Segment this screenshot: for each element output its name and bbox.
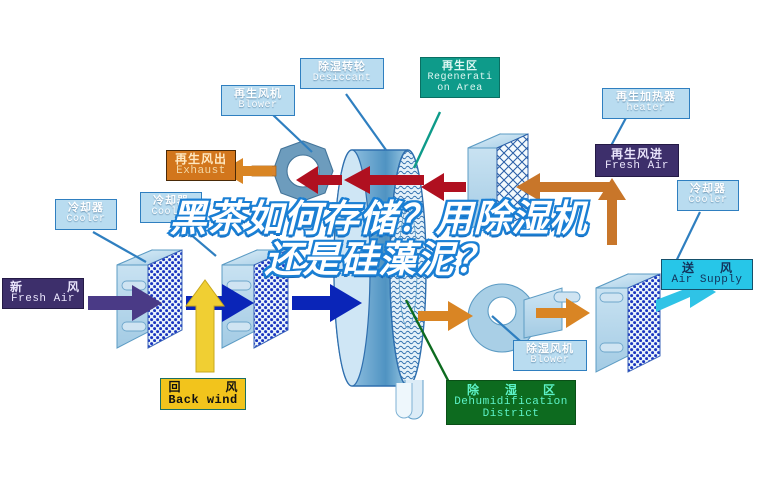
label-dehum-blower: 除湿风机 Blower: [513, 340, 587, 371]
cooler-unit-right: [596, 274, 660, 372]
label-fresh-air-cn: 新 风: [3, 281, 83, 294]
label-desiccant-wheel-en: Desiccant: [301, 74, 383, 85]
label-exhaust-en: Exhaust: [167, 166, 235, 178]
leader-line-regen-area: [414, 112, 440, 168]
label-regen-heater: 再生加热器 heater: [602, 88, 690, 119]
label-regen-heater-en: heater: [603, 104, 689, 115]
label-back-wind: 回 风 Back wind: [160, 378, 246, 410]
label-back-wind-en: Back wind: [161, 394, 245, 407]
label-dehumidification-district: 除 湿 区 Dehumidification District: [446, 380, 576, 425]
label-back-wind-cn: 回 风: [161, 381, 245, 394]
label-regen-fresh-air-cn: 再生风进: [596, 148, 678, 161]
label-regeneration-area-en2: on Area: [421, 84, 499, 95]
dehumidifier-diagram: 除湿转轮 Desiccant 再生风机 Blower 再生区 Regenerat…: [0, 0, 757, 488]
arrow-dehum-1: [418, 301, 473, 331]
label-fresh-air-en: Fresh Air: [3, 294, 83, 306]
label-fresh-air: 新 风 Fresh Air: [2, 278, 84, 309]
headline-line-1: 黑茶如何存储？用除湿机: [0, 198, 757, 239]
label-regen-fresh-air: 再生风进 Fresh Air: [595, 144, 679, 177]
label-desiccant-wheel: 除湿转轮 Desiccant: [300, 58, 384, 89]
label-exhaust-cn: 再生风出: [167, 153, 235, 166]
label-regen-fresh-air-en: Fresh Air: [596, 161, 678, 173]
label-regen-blower: 再生风机 Blower: [221, 85, 295, 116]
headline-overlay: 黑茶如何存储？用除湿机 还是硅藻泥？: [0, 198, 757, 281]
arrow-back-wind: [186, 280, 224, 372]
label-exhaust: 再生风出 Exhaust: [166, 150, 236, 181]
label-regen-blower-en: Blower: [222, 101, 294, 112]
label-regeneration-area: 再生区 Regenerati on Area: [420, 57, 500, 98]
label-dehum-blower-en: Blower: [514, 356, 586, 367]
headline-line-2: 还是硅藻泥？: [0, 239, 757, 280]
label-dehum-district-en2: District: [447, 409, 575, 421]
desiccant-wheel: [334, 150, 426, 419]
label-dehum-district-cn: 除 湿 区: [447, 384, 575, 397]
